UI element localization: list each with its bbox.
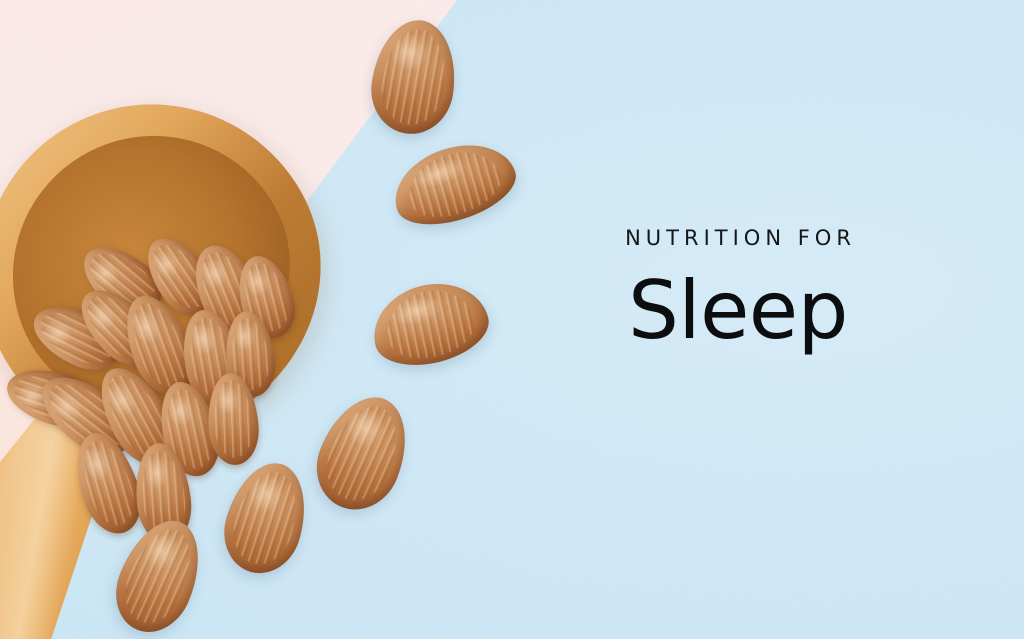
title-block: NUTRITION FOR Sleep [556,228,920,351]
kicker-text: NUTRITION FOR [556,228,920,249]
banner-canvas: NUTRITION FOR Sleep [0,0,1024,639]
page-title: Sleep [556,271,920,351]
